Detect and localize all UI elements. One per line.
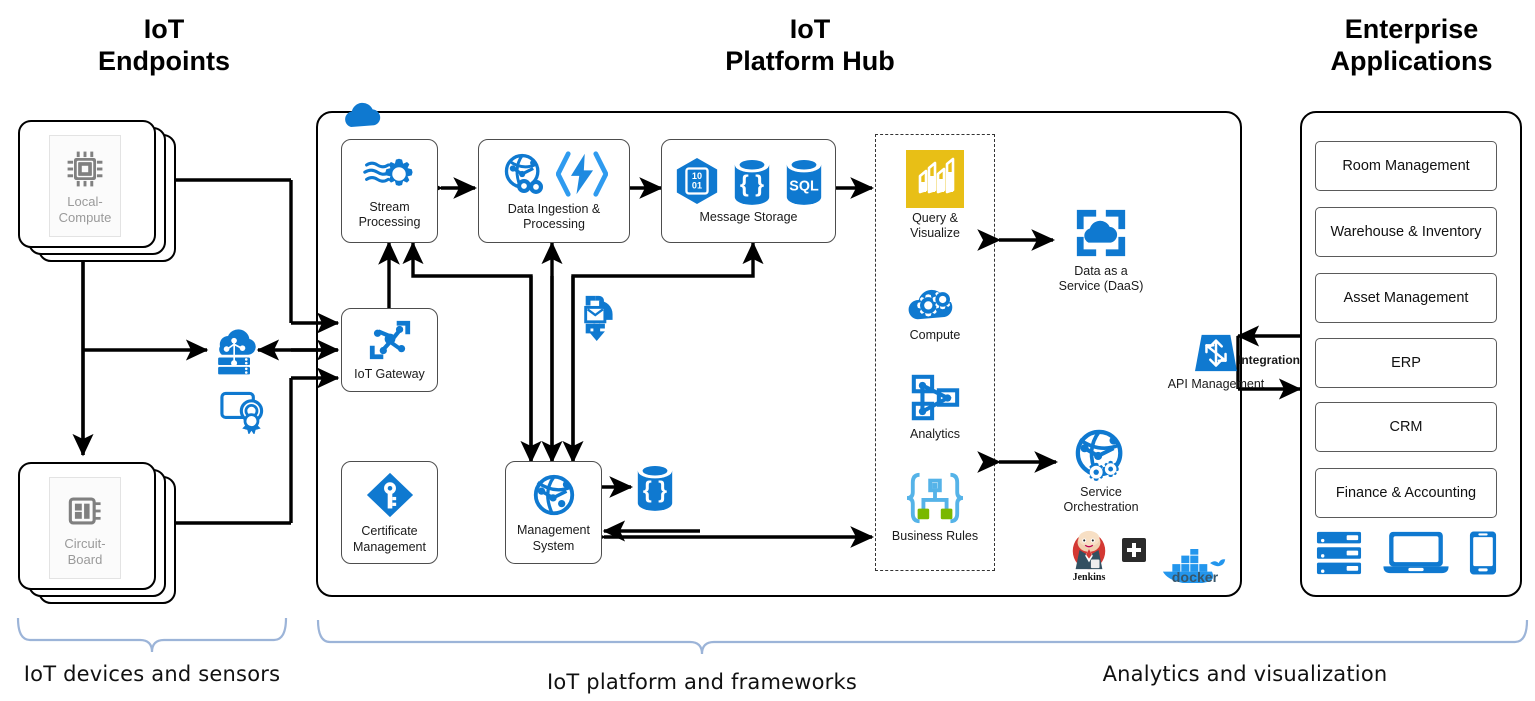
svg-text:SQL: SQL [789,179,819,195]
brace-devices [18,618,286,652]
node-label: StreamProcessing [359,200,421,231]
device-inner-panel: Local-Compute [49,135,121,237]
service-orchestration[interactable]: ServiceOrchestration [1036,428,1166,516]
device-certificate-icon [218,386,272,434]
app-warehouse-inventory[interactable]: Warehouse & Inventory [1315,207,1497,257]
server-rack-icon [1315,530,1363,576]
analytics-item-analytics[interactable]: Analytics [880,372,990,442]
orchestration-globe-gears-icon [1036,428,1166,482]
svg-text:{ }: { } [643,477,667,503]
app-erp[interactable]: ERP [1315,338,1497,388]
daas-cloud-icon [1036,205,1166,261]
circuit-board-icon [63,489,107,533]
node-label: Data Ingestion &Processing [508,202,600,233]
analytics-nodes-icon [880,372,990,424]
caption-devices: IoT devices and sensors [0,662,304,686]
analytics-item-label: Compute [880,328,990,343]
app-finance-accounting[interactable]: Finance & Accounting [1315,468,1497,518]
stream-analytics-icon [363,152,417,196]
analytics-item-label: Analytics [880,427,990,442]
iot-hub-globe-icon [500,150,548,198]
event-hub-icon: 10 01 [673,156,721,206]
docker-wordmark: docker [1172,570,1219,583]
service-label: Data as aService (DaaS) [1036,264,1166,295]
node-label: IoT Gateway [354,367,425,382]
device-label: Local-Compute [59,194,112,225]
analytics-item-compute[interactable]: Compute [880,277,990,343]
node-management-system[interactable]: ManagementSystem [505,461,602,564]
cloud-gears-icon [880,277,990,325]
device-sheet-front: Local-Compute [18,120,156,248]
service-label: ServiceOrchestration [1036,485,1166,516]
app-crm[interactable]: CRM [1315,402,1497,452]
svg-text:{ }: { } [739,171,763,197]
device-sheet-front: Circuit-Board [18,462,156,590]
iot-edge-device-icon [205,320,265,380]
plus-badge-icon [1122,538,1146,567]
integration-label: Integration [1238,353,1300,368]
iot-hub-icon [529,471,579,519]
node-certificate-management[interactable]: CertificateManagement [341,461,438,564]
svg-text:10: 10 [691,171,701,181]
app-asset-management[interactable]: Asset Management [1315,273,1497,323]
node-label: CertificateManagement [353,524,426,555]
power-bi-icon [880,150,990,208]
cosmos-db-icon: { } [634,462,676,512]
enterprise-client-icons [1315,530,1497,576]
node-label: ManagementSystem [517,523,590,554]
analytics-item-query-visualize[interactable]: Query &Visualize [880,150,990,242]
event-message-download-icon [578,292,626,342]
analytics-item-label: Business Rules [880,529,990,544]
sql-database-icon: SQL [783,156,825,206]
analytics-item-business-rules[interactable]: Business Rules [880,470,990,544]
caption-platform: IoT platform and frameworks [500,670,904,694]
cosmos-db-icon: { } [731,156,773,206]
device-stack-local-compute[interactable]: Local-Compute [18,120,178,265]
service-data-as-a-service[interactable]: Data as aService (DaaS) [1036,205,1166,295]
docker-logo: docker [1153,549,1237,583]
key-vault-icon [364,470,416,520]
node-label: Message Storage [700,210,798,225]
node-stream-processing[interactable]: StreamProcessing [341,139,438,243]
azure-functions-icon [556,151,608,197]
node-message-storage[interactable]: 10 01 { } SQL M [661,139,836,243]
iot-gateway-icon [366,317,414,363]
node-iot-gateway[interactable]: IoT Gateway [341,308,438,392]
device-inner-panel: Circuit-Board [49,477,121,579]
device-label: Circuit-Board [64,536,105,567]
service-label: API Management [1126,377,1306,392]
smartphone-icon [1469,530,1497,576]
business-rules-braces-icon [880,470,990,526]
laptop-icon [1381,530,1451,576]
jenkins-label: Jenkins [1063,572,1115,583]
devops-logos-row: Jenkins [1063,528,1243,583]
svg-text:01: 01 [691,181,701,191]
cpu-chip-icon [63,147,107,191]
node-data-ingestion-processing[interactable]: Data Ingestion &Processing [478,139,630,243]
jenkins-logo: Jenkins [1063,528,1115,583]
device-stack-circuit-board[interactable]: Circuit-Board [18,462,178,607]
brace-platform [318,620,1527,654]
caption-analytics: Analytics and visualization [1030,662,1460,686]
analytics-item-label: Query &Visualize [880,211,990,242]
cloud-icon [341,95,391,131]
app-room-management[interactable]: Room Management [1315,141,1497,191]
